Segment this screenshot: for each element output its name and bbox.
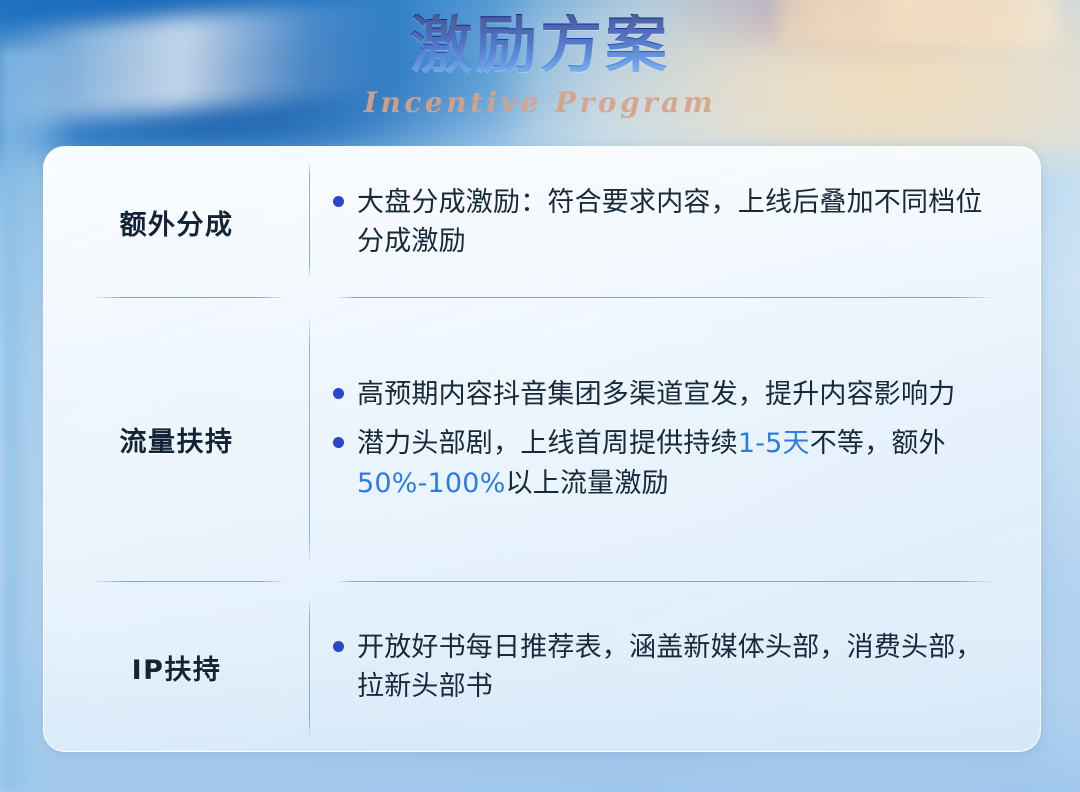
incentive-program-slide: Incentive Program 激励方案 额外分成 大盘分成激励：符合要求内… [0, 0, 1080, 792]
row-content-extra-revenue-share: 大盘分成激励：符合要求内容，上线后叠加不同档位分成激励 [309, 183, 1040, 262]
list-item: 开放好书每日推荐表，涵盖新媒体头部，消费头部，拉新头部书 [333, 628, 1000, 707]
bullet-dot-icon [333, 196, 344, 207]
subtitle-incentive-program: Incentive Program [0, 86, 1080, 119]
bullet-text: 开放好书每日推荐表，涵盖新媒体头部，消费头部，拉新头部书 [357, 628, 1000, 707]
incentive-table: 额外分成 大盘分成激励：符合要求内容，上线后叠加不同档位分成激励 流量扶持 高预… [44, 147, 1040, 751]
bullet-dot-icon [333, 388, 344, 399]
list-item: 高预期内容抖音集团多渠道宣发，提升内容影响力 [333, 375, 1000, 414]
row-label-extra-revenue-share: 额外分成 [44, 203, 309, 242]
horizontal-divider [336, 581, 996, 582]
bullet-text: 潜力头部剧，上线首周提供持续1-5天不等，额外50%-100%以上流量激励 [357, 424, 1000, 503]
horizontal-divider [92, 581, 286, 582]
page-title: 激励方案 [410, 14, 670, 76]
vertical-divider [309, 161, 310, 279]
bullet-dot-icon [333, 437, 344, 448]
bullet-dot-icon [333, 641, 344, 652]
table-row: 额外分成 大盘分成激励：符合要求内容，上线后叠加不同档位分成激励 [44, 147, 1040, 297]
content-card: 额外分成 大盘分成激励：符合要求内容，上线后叠加不同档位分成激励 流量扶持 高预… [43, 146, 1041, 752]
row-label-traffic-support: 流量扶持 [44, 420, 309, 459]
bullet-text: 高预期内容抖音集团多渠道宣发，提升内容影响力 [357, 375, 1000, 414]
list-item: 潜力头部剧，上线首周提供持续1-5天不等，额外50%-100%以上流量激励 [333, 424, 1000, 503]
title-block: Incentive Program 激励方案 [0, 14, 1080, 124]
row-content-traffic-support: 高预期内容抖音集团多渠道宣发，提升内容影响力 潜力头部剧，上线首周提供持续1-5… [309, 375, 1040, 503]
vertical-divider [309, 315, 310, 565]
bullet-text: 大盘分成激励：符合要求内容，上线后叠加不同档位分成激励 [357, 183, 1000, 262]
list-item: 大盘分成激励：符合要求内容，上线后叠加不同档位分成激励 [333, 183, 1000, 262]
row-content-ip-support: 开放好书每日推荐表，涵盖新媒体头部，消费头部，拉新头部书 [309, 628, 1040, 707]
row-label-ip-support: IP扶持 [44, 648, 309, 687]
horizontal-divider [92, 297, 286, 298]
table-row: 流量扶持 高预期内容抖音集团多渠道宣发，提升内容影响力 潜力头部剧，上线首周提供… [44, 297, 1040, 581]
vertical-divider [309, 599, 310, 737]
horizontal-divider [336, 297, 996, 298]
table-row: IP扶持 开放好书每日推荐表，涵盖新媒体头部，消费头部，拉新头部书 [44, 581, 1040, 752]
